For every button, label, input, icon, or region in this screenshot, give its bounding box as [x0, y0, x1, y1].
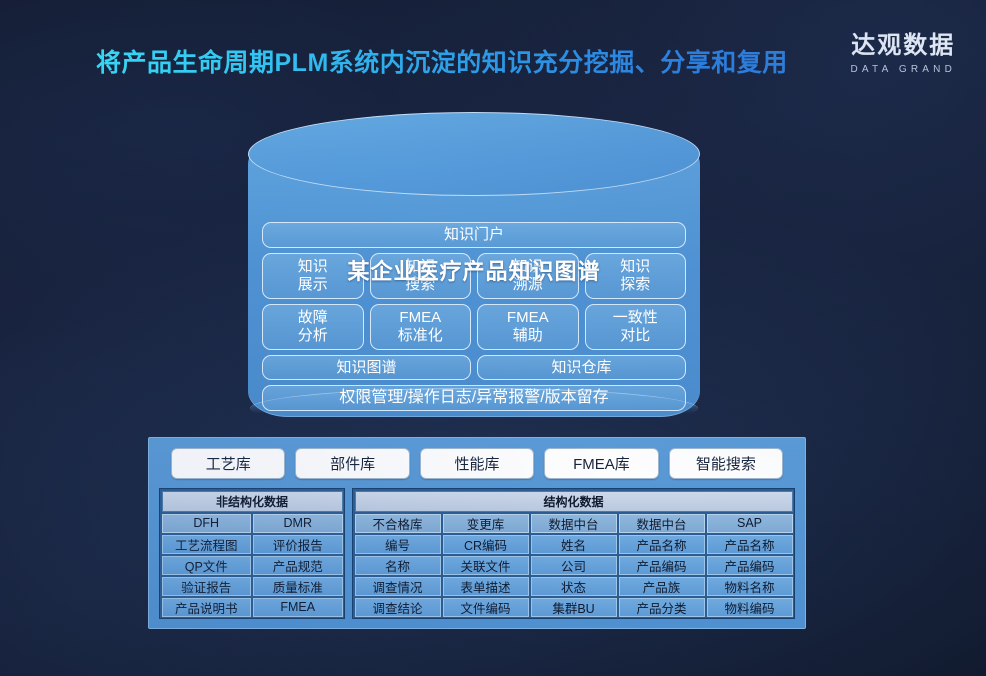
- unstructured-col-dfh: DFH: [162, 514, 252, 533]
- structured-header: 结构化数据: [355, 491, 793, 512]
- structured-col-datamid-1: 数据中台: [531, 514, 617, 533]
- data-tables: 非结构化数据 DFH DMR 工艺流程图 评价报告 QP文件 产品规范 验证报告…: [159, 488, 795, 619]
- cylinder-top-ellipse: [248, 112, 700, 196]
- table-cell: 表单描述: [443, 577, 529, 596]
- module-knowledge-warehouse[interactable]: 知识仓库: [477, 355, 686, 380]
- table-cell: 物料编码: [707, 598, 793, 617]
- table-cell: 文件编码: [443, 598, 529, 617]
- library-button-component[interactable]: 部件库: [295, 448, 409, 479]
- table-cell: QP文件: [162, 556, 252, 575]
- table-cell: CR编码: [443, 535, 529, 554]
- table-cell: 关联文件: [443, 556, 529, 575]
- table-cell: 状态: [531, 577, 617, 596]
- table-cell: 验证报告: [162, 577, 252, 596]
- table-cell: 产品分类: [619, 598, 705, 617]
- module-knowledge-portal[interactable]: 知识门户: [262, 222, 686, 248]
- table-cell: FMEA: [253, 598, 343, 617]
- table-cell: 编号: [355, 535, 441, 554]
- table-cell: 调查情况: [355, 577, 441, 596]
- brand-logo: 达观数据 DATA GRAND: [850, 32, 956, 75]
- structured-col-change: 变更库: [443, 514, 529, 533]
- repository-row: 知识图谱 知识仓库: [262, 355, 686, 380]
- data-source-panel: 工艺库 部件库 性能库 FMEA库 智能搜索 非结构化数据 DFH DMR 工艺…: [148, 437, 806, 629]
- cylinder-title: 某企业医疗产品知识图谱: [248, 254, 700, 286]
- table-cell: 调查结论: [355, 598, 441, 617]
- table-cell: 工艺流程图: [162, 535, 252, 554]
- table-cell: 产品说明书: [162, 598, 252, 617]
- unstructured-col-dmr: DMR: [253, 514, 343, 533]
- module-governance-footer[interactable]: 权限管理/操作日志/异常报警/版本留存: [262, 385, 686, 411]
- structured-col-sap: SAP: [707, 514, 793, 533]
- library-button-smart-search[interactable]: 智能搜索: [669, 448, 783, 479]
- library-button-process[interactable]: 工艺库: [171, 448, 285, 479]
- table-cell: 产品规范: [253, 556, 343, 575]
- slide-canvas: 将产品生命周期PLM系统内沉淀的知识充分挖掘、分享和复用 达观数据 DATA G…: [0, 0, 986, 676]
- table-cell: 产品名称: [619, 535, 705, 554]
- table-cell: 公司: [531, 556, 617, 575]
- library-button-performance[interactable]: 性能库: [420, 448, 534, 479]
- structured-grid: 不合格库 变更库 数据中台 数据中台 SAP 编号 CR编码 姓名 产品名称 产…: [355, 514, 793, 617]
- knowledge-graph-cylinder: 某企业医疗产品知识图谱 知识门户 知识 展示 知识 搜索 知识 溯源 知识 探索…: [248, 112, 700, 417]
- brand-logo-en: DATA GRAND: [850, 64, 956, 75]
- table-cell: 产品名称: [707, 535, 793, 554]
- structured-col-datamid-2: 数据中台: [619, 514, 705, 533]
- page-title: 将产品生命周期PLM系统内沉淀的知识充分挖掘、分享和复用: [96, 43, 788, 79]
- capability-row-2: 故障 分析 FMEA 标准化 FMEA 辅助 一致性 对比: [262, 304, 686, 350]
- table-cell: 质量标准: [253, 577, 343, 596]
- library-button-row: 工艺库 部件库 性能库 FMEA库 智能搜索: [159, 446, 795, 488]
- library-button-fmea[interactable]: FMEA库: [544, 448, 658, 479]
- module-knowledge-graph[interactable]: 知识图谱: [262, 355, 471, 380]
- module-consistency-comparison[interactable]: 一致性 对比: [585, 304, 687, 350]
- table-cell: 产品编码: [619, 556, 705, 575]
- module-fault-analysis[interactable]: 故障 分析: [262, 304, 364, 350]
- table-cell: 评价报告: [253, 535, 343, 554]
- table-cell: 产品族: [619, 577, 705, 596]
- brand-logo-cn: 达观数据: [850, 32, 956, 60]
- unstructured-data-table: 非结构化数据 DFH DMR 工艺流程图 评价报告 QP文件 产品规范 验证报告…: [159, 488, 345, 619]
- structured-col-nonconforming: 不合格库: [355, 514, 441, 533]
- module-fmea-standardization[interactable]: FMEA 标准化: [370, 304, 472, 350]
- table-cell: 集群BU: [531, 598, 617, 617]
- table-cell: 物料名称: [707, 577, 793, 596]
- table-cell: 产品编码: [707, 556, 793, 575]
- unstructured-grid: DFH DMR 工艺流程图 评价报告 QP文件 产品规范 验证报告 质量标准 产…: [162, 514, 343, 617]
- module-fmea-assistance[interactable]: FMEA 辅助: [477, 304, 579, 350]
- table-cell: 名称: [355, 556, 441, 575]
- capability-modules: 知识门户 知识 展示 知识 搜索 知识 溯源 知识 探索 故障 分析 FMEA …: [262, 222, 686, 411]
- table-cell: 姓名: [531, 535, 617, 554]
- unstructured-header: 非结构化数据: [162, 491, 343, 512]
- structured-data-table: 结构化数据 不合格库 变更库 数据中台 数据中台 SAP 编号 CR编码 姓名 …: [352, 488, 795, 619]
